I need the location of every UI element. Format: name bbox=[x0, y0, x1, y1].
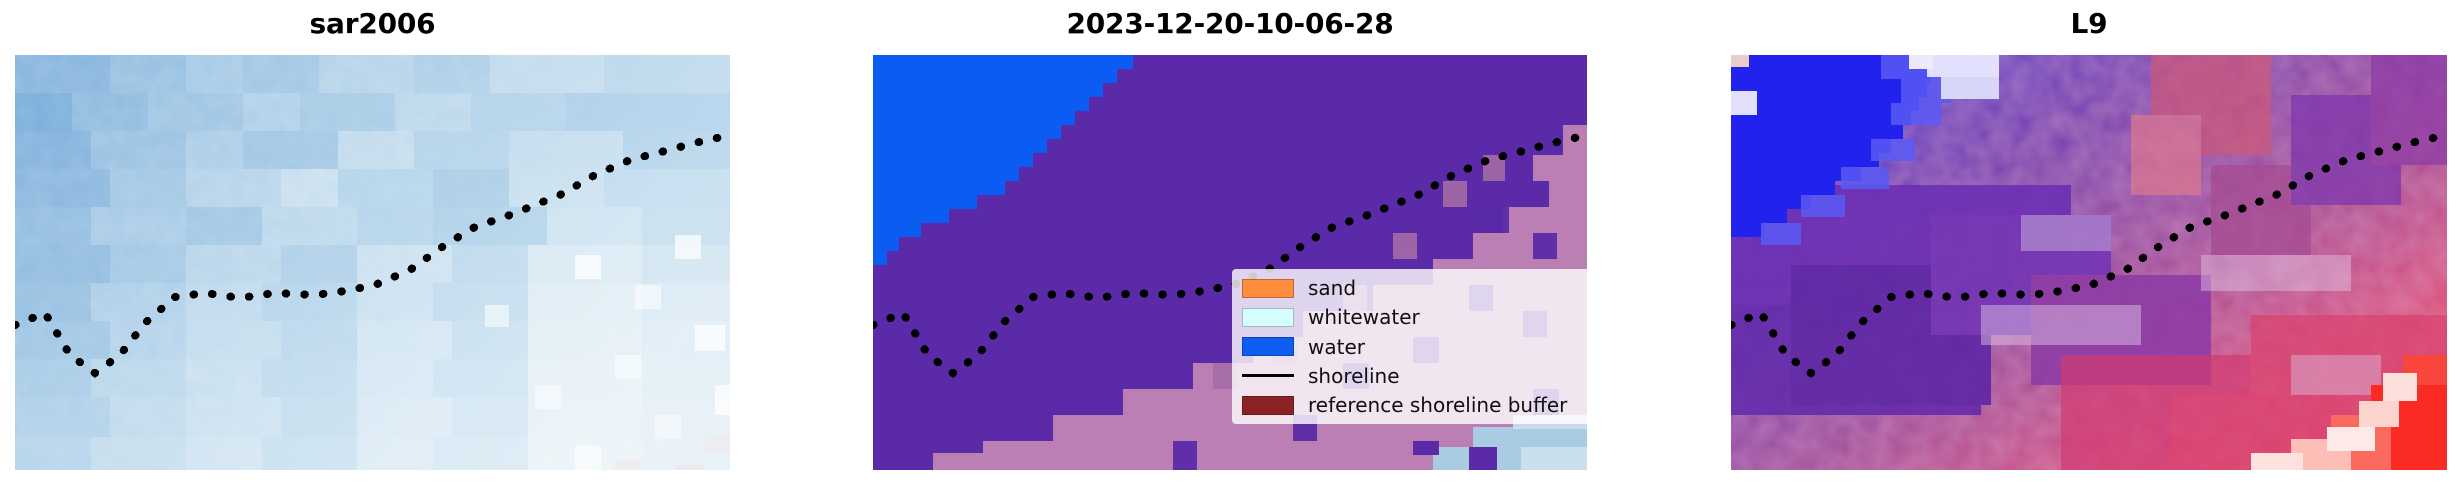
legend-label-shoreline: shoreline bbox=[1308, 366, 1400, 386]
legend-item-reference-shoreline-buffer[interactable]: reference shoreline buffer bbox=[1242, 392, 1582, 418]
legend-item-sand[interactable]: sand bbox=[1242, 275, 1582, 301]
panel-L9[interactable] bbox=[1731, 55, 2447, 470]
legend-item-water[interactable]: water bbox=[1242, 334, 1582, 360]
legend-label-reference-shoreline-buffer: reference shoreline buffer bbox=[1308, 395, 1567, 415]
panel-sar2006[interactable] bbox=[15, 55, 730, 470]
shoreline-line-icon bbox=[1242, 366, 1294, 385]
panel-title-1: sar2006 bbox=[15, 6, 730, 42]
water-swatch-icon bbox=[1242, 337, 1294, 356]
legend-label-sand: sand bbox=[1308, 278, 1356, 298]
legend-label-water: water bbox=[1308, 337, 1365, 357]
legend-label-whitewater: whitewater bbox=[1308, 307, 1420, 327]
raster-sar2006 bbox=[15, 55, 730, 470]
panel-title-3: L9 bbox=[1731, 6, 2447, 42]
sand-swatch-icon bbox=[1242, 279, 1294, 298]
figure-root: sar2006 2023-12-20-10-06-28 L9 bbox=[0, 0, 2460, 486]
legend-item-whitewater[interactable]: whitewater bbox=[1242, 304, 1582, 330]
panel-title-2: 2023-12-20-10-06-28 bbox=[873, 6, 1587, 42]
reference-buffer-swatch-icon bbox=[1242, 396, 1294, 415]
whitewater-swatch-icon bbox=[1242, 308, 1294, 327]
legend-item-shoreline[interactable]: shoreline bbox=[1242, 363, 1582, 389]
raster-L9 bbox=[1731, 55, 2447, 470]
legend[interactable]: sand whitewater water shoreline referenc… bbox=[1232, 269, 1592, 424]
